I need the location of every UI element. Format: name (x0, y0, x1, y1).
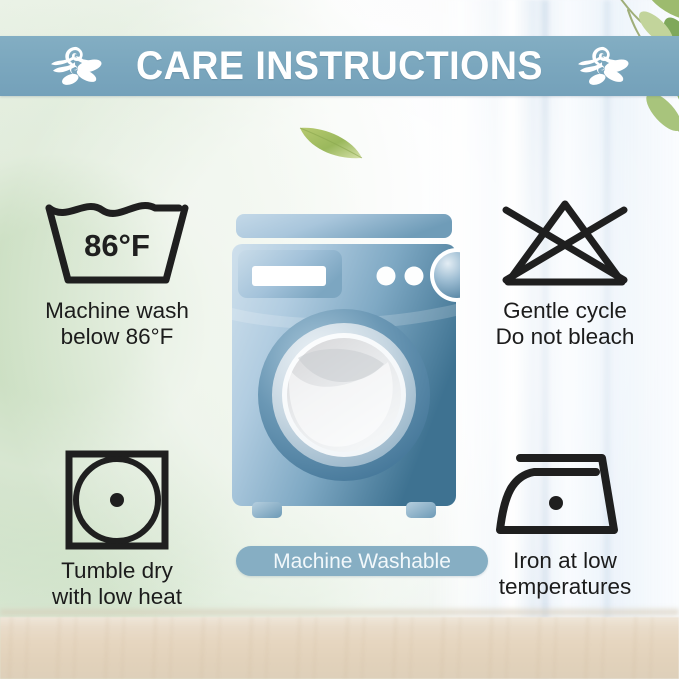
wood-grain-texture (0, 617, 679, 679)
care-symbol-caption-tumble-dry: Tumble dry with low heat (14, 558, 220, 611)
wash-temperature-value: 86°F (84, 228, 150, 263)
tumble-dry-icon (57, 446, 177, 552)
header-banner: CARE INSTRUCTIONS (0, 36, 679, 96)
detergent-drawer-slot (252, 266, 326, 286)
crossed-triangle-icon (490, 196, 640, 292)
fleur-de-lis-icon-right (574, 43, 632, 89)
washing-machine-illustration (228, 212, 460, 532)
machine-washable-badge-label: Machine Washable (273, 551, 451, 572)
care-symbol-caption-machine-wash: Machine wash below 86°F (14, 298, 220, 351)
care-symbol-do-not-bleach: Gentle cycle Do not bleach (462, 196, 668, 351)
washer-foot-left (252, 502, 282, 518)
page-title: CARE INSTRUCTIONS (136, 46, 543, 86)
fleur-de-lis-icon-left (47, 43, 105, 89)
washer-button-2 (405, 267, 424, 286)
care-symbol-iron: Iron at low temperatures (462, 446, 668, 601)
washer-button-1 (377, 267, 396, 286)
care-symbol-machine-wash: 86°F Machine wash below 86°F (14, 196, 220, 351)
washer-foot-right (406, 502, 436, 518)
wash-tub-icon: 86°F (42, 196, 192, 292)
care-instructions-infographic: CARE INSTRUCTIONS 86°F Machine wash belo… (0, 0, 679, 679)
washer-lid (236, 214, 452, 238)
iron-icon (490, 446, 640, 542)
washing-machine-graphic (228, 212, 460, 532)
care-symbol-caption-iron: Iron at low temperatures (462, 548, 668, 601)
care-symbol-tumble-dry: Tumble dry with low heat (14, 446, 220, 611)
machine-washable-badge: Machine Washable (236, 546, 488, 576)
care-symbol-caption-do-not-bleach: Gentle cycle Do not bleach (462, 298, 668, 351)
